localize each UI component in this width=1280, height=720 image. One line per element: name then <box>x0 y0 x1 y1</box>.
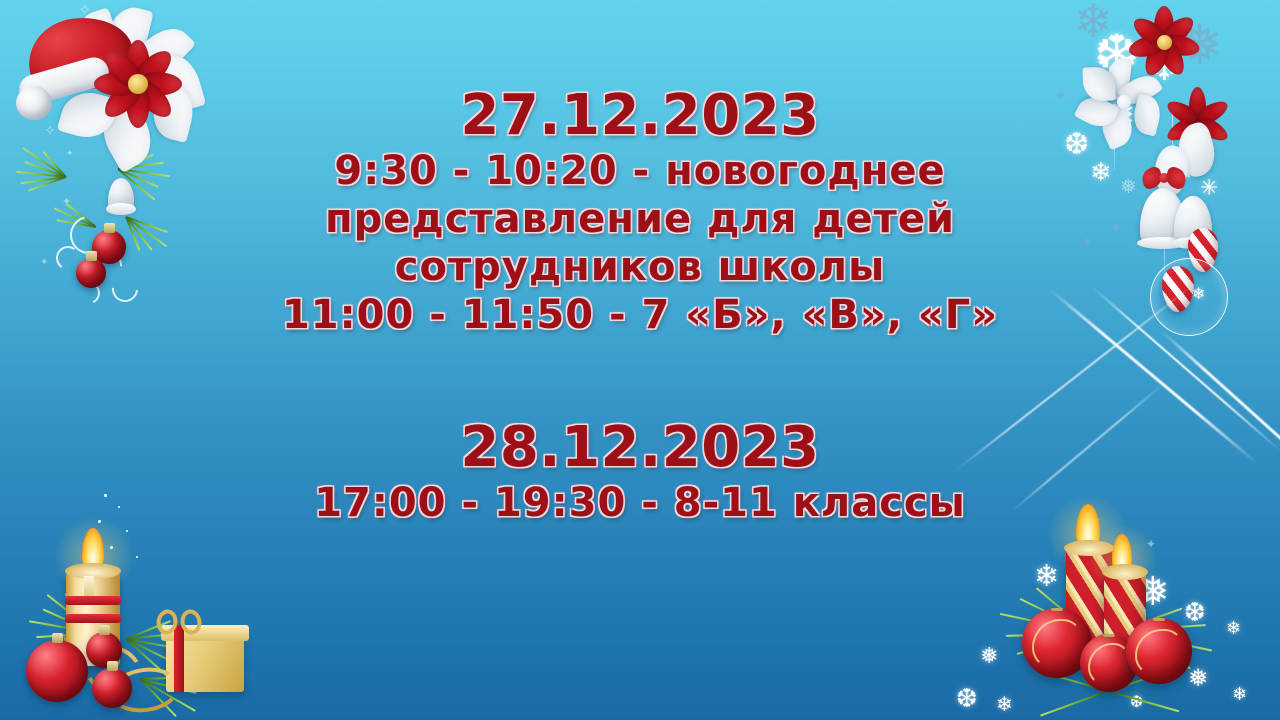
red-poinsettia-icon <box>1128 6 1200 78</box>
new-year-announcement-slide: ✧ ✦ ✧ ✦ ✧ ✧ ✦ ✦ ✦ <box>0 0 1280 720</box>
white-poinsettia-icon <box>70 7 126 75</box>
snowflake-icon: ❄ <box>1192 286 1205 302</box>
light-streak-icon <box>1011 382 1165 512</box>
red-ornament-icon <box>1022 608 1092 678</box>
striped-candle-icon <box>1066 548 1112 644</box>
red-bauble-icon <box>92 230 126 264</box>
star-sparkle-icon: ✧ <box>36 60 46 72</box>
hanging-thread <box>1114 128 1115 170</box>
snowflake-icon: ✦ <box>1076 110 1087 123</box>
gold-gift-box-icon <box>166 636 244 692</box>
white-poinsettia-icon <box>48 29 120 101</box>
white-ribbon-icon <box>1146 141 1196 198</box>
snowflake-icon: ❅ <box>1176 18 1223 74</box>
snowflake-icon: ❄ <box>996 694 1013 714</box>
event-line: представление для детей <box>325 196 955 242</box>
santa-hat-icon <box>18 14 138 114</box>
white-poinsettia-icon <box>92 97 163 174</box>
white-bell-icon <box>108 178 134 210</box>
star-sparkle-icon: ✦ <box>96 14 105 25</box>
snowflake-icon: ❅ <box>1104 96 1136 134</box>
sparkle-icon <box>110 546 113 549</box>
snowflake-icon: ❅ <box>1136 572 1170 612</box>
flame-glow <box>1050 492 1126 578</box>
snowflake-icon: ✦ <box>1090 514 1102 528</box>
hanging-thread <box>1164 232 1165 272</box>
slide-text-layer: 27.12.2023 9:30 - 10:20 - новогоднее пре… <box>0 0 1280 720</box>
hanging-thread <box>1172 112 1173 170</box>
event-date: 28.12.2023 <box>460 418 819 478</box>
star-sparkle-icon: ✧ <box>44 124 56 138</box>
flame-icon <box>82 528 104 570</box>
decoration-bottom-right: ❄ ❅ ❆ ❄ ❅ ❆ ❄ ❅ ❄ ❆ ✦ ✦ <box>940 480 1280 720</box>
event-line: сотрудников школы <box>395 244 886 290</box>
star-sparkle-icon: ✦ <box>40 258 48 268</box>
event-date: 27.12.2023 <box>460 86 819 146</box>
snowflake-icon: ❄ <box>1034 562 1059 592</box>
gold-ribbon-icon <box>55 608 113 665</box>
white-poinsettia-icon <box>126 18 196 89</box>
snowflake-icon: ❄ <box>1226 620 1241 638</box>
event-line: 11:00 - 11:50 - 7 «Б», «В», «Г» <box>282 292 998 338</box>
light-streak-icon <box>1091 286 1280 452</box>
light-streak-icon <box>1161 330 1280 493</box>
snowflake-icon: ❄ <box>1074 0 1113 44</box>
red-bauble-icon <box>92 668 132 708</box>
star-sparkle-icon: ✦ <box>62 196 71 207</box>
star-sparkle-icon: ✧ <box>152 36 163 49</box>
red-bauble-icon <box>26 640 88 702</box>
red-bow-icon <box>1142 168 1186 190</box>
snowflake-icon: ❆ <box>1184 600 1206 626</box>
sparkle-icon <box>126 530 128 532</box>
snowflake-icon: ❅ <box>1120 176 1137 196</box>
flame-glow <box>56 514 132 600</box>
decoration-bottom-left <box>0 490 290 720</box>
star-sparkle-icon: ✦ <box>66 150 74 159</box>
gold-ribbon-icon <box>156 610 202 636</box>
schedule-block-1: 27.12.2023 9:30 - 10:20 - новогоднее пре… <box>0 86 1280 338</box>
red-ornament-icon <box>1080 634 1138 692</box>
sparkle-icon <box>104 494 107 497</box>
white-bell-icon <box>1174 196 1212 244</box>
snowflake-icon: ❄ <box>1232 686 1247 704</box>
silver-swirl-icon <box>107 271 144 308</box>
flame-icon <box>1076 504 1100 548</box>
snowflake-icon: ✦ <box>1146 538 1156 550</box>
white-bell-icon <box>1140 188 1186 244</box>
white-poinsettia-icon <box>152 49 206 116</box>
snowflake-icon: ❆ <box>1094 28 1139 82</box>
red-ornament-icon <box>1126 618 1192 684</box>
gold-ribbon-icon <box>78 638 148 702</box>
decoration-top-right: ❄ ❅ ❆ ❄ ❅ ❆ ❄ ❅ ✺ ✳ ✦ ✦ ✦ ✦ ✦ <box>1050 0 1280 340</box>
wire-ball-icon <box>1150 258 1228 336</box>
red-bauble-icon <box>76 258 106 288</box>
hanging-thread <box>1196 196 1197 232</box>
star-sparkle-icon: ✦ <box>168 60 176 70</box>
snowflake-icon: ❅ <box>1188 666 1208 690</box>
sparkle-icon <box>136 556 138 558</box>
gold-ribbon-icon <box>107 663 182 716</box>
silver-swirl-icon <box>63 209 115 261</box>
sparkle-icon <box>98 520 101 523</box>
snowflake-icon: ✦ <box>1054 88 1067 104</box>
decoration-top-left: ✧ ✦ ✧ ✦ ✧ ✧ ✦ ✦ ✦ <box>0 0 250 340</box>
flame-icon <box>1112 534 1132 572</box>
striped-ornament-icon <box>1188 228 1218 272</box>
red-bauble-icon <box>86 632 122 668</box>
silver-swirl-icon <box>75 279 103 307</box>
snowflake-icon: ❄ <box>1090 160 1112 186</box>
snowflake-icon: ❆ <box>1064 130 1089 160</box>
striped-candle-icon <box>1104 572 1146 650</box>
white-poinsettia-icon <box>57 86 120 145</box>
schedule-block-2: 28.12.2023 17:00 - 19:30 - 8-11 классы <box>0 418 1280 526</box>
white-poinsettia-icon <box>1084 62 1164 142</box>
silver-swirl-icon <box>54 244 82 272</box>
event-line: 17:00 - 19:30 - 8-11 классы <box>314 480 966 526</box>
red-poinsettia-icon <box>1160 84 1234 158</box>
snowflake-icon: ❅ <box>980 646 998 668</box>
silver-swirl-icon <box>86 244 128 286</box>
snowflake-icon: ❆ <box>1130 694 1143 710</box>
white-ribbon-icon <box>1172 120 1221 180</box>
gold-candle-icon <box>66 570 120 666</box>
snowflake-icon: ✳ <box>1200 178 1218 200</box>
flame-glow <box>1090 522 1156 596</box>
snowflake-icon: ❆ <box>956 686 978 712</box>
sparkle-icon <box>88 544 90 546</box>
snowflake-icon: ✦ <box>1110 222 1122 236</box>
red-poinsettia-icon <box>96 42 180 126</box>
star-sparkle-icon: ✧ <box>78 2 91 18</box>
white-poinsettia-icon <box>96 2 154 80</box>
event-line: 9:30 - 10:20 - новогоднее <box>334 148 945 194</box>
snowflake-icon: ✺ <box>1170 150 1199 184</box>
snowflake-icon: ✦ <box>1082 236 1092 248</box>
sparkle-icon <box>118 506 120 508</box>
snowflake-icon: ✦ <box>1134 204 1143 215</box>
white-poinsettia-icon <box>147 81 199 143</box>
snowflake-icon: ❄ <box>1146 44 1183 88</box>
